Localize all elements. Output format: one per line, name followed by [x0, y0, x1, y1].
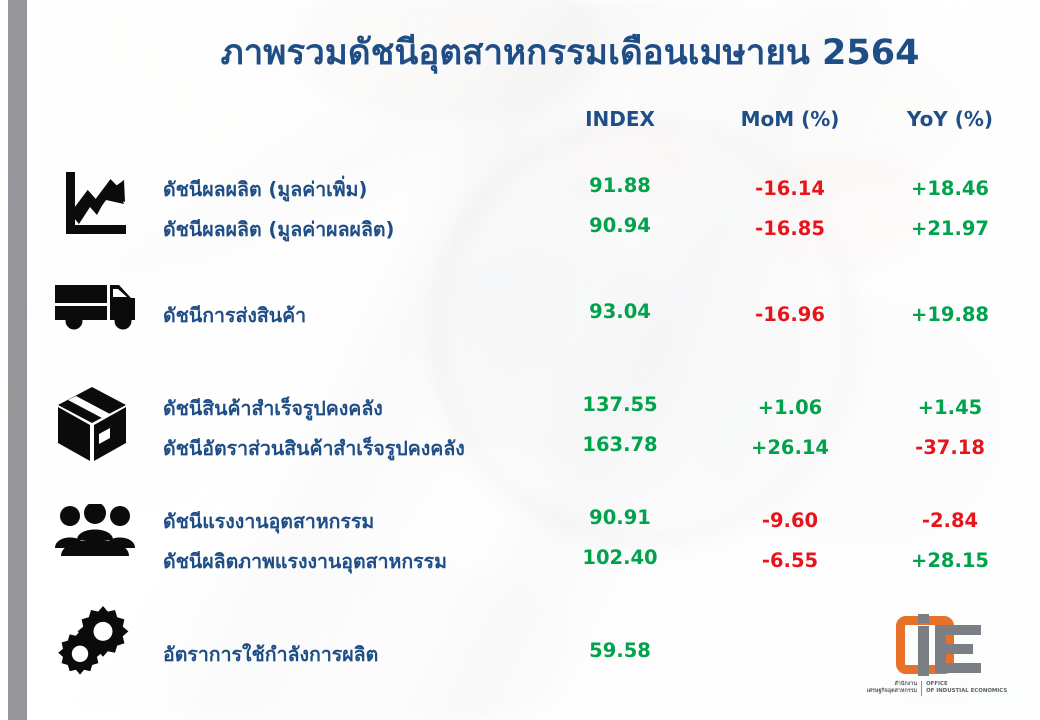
row-index-value: 163.78 — [540, 433, 700, 456]
row-label: ดัชนีผลผลิต (มูลค่าผลผลิต) — [163, 214, 394, 245]
row-mom-value: -16.85 — [705, 217, 875, 240]
table-row: ดัชนีสินค้าสำเร็จรูปคงคลัง 137.55 +1.06 … — [0, 393, 1040, 423]
logo-eng-text: OFFICE OF INDUSTIAL ECONOMICS — [922, 681, 1007, 696]
page-title: ภาพรวมดัชนีอุตสาหกรรมเดือนเมษายน 2564 — [140, 34, 1000, 73]
row-yoy-value: +1.45 — [870, 396, 1030, 419]
row-label: ดัชนีอัตราส่วนสินค้าสำเร็จรูปคงคลัง — [163, 433, 465, 464]
row-label: ดัชนีแรงงานอุตสาหกรรม — [163, 506, 374, 537]
row-index-value: 137.55 — [540, 393, 700, 416]
column-header-index: INDEX — [540, 107, 700, 131]
row-label: ดัชนีสินค้าสำเร็จรูปคงคลัง — [163, 393, 383, 424]
row-label: อัตราการใช้กำลังการผลิต — [163, 639, 378, 670]
logo-eng-line1: OFFICE — [926, 681, 1007, 688]
row-mom-value: +1.06 — [705, 396, 875, 419]
row-mom-value: -16.96 — [705, 303, 875, 326]
row-yoy-value: +28.15 — [870, 549, 1030, 572]
logo-e-bar-top — [935, 625, 981, 635]
oie-logo-text: สำนักงาน เศรษฐกิจอุตสาหกรรม OFFICE OF IN… — [862, 681, 1012, 696]
row-mom-value: -16.14 — [705, 177, 875, 200]
table-row: ดัชนีผลิตภาพแรงงานอุตสาหกรรม 102.40 -6.5… — [0, 546, 1040, 576]
logo-i-dot — [918, 614, 929, 623]
row-index-value: 102.40 — [540, 546, 700, 569]
row-index-value: 90.94 — [540, 214, 700, 237]
slide-canvas: ภาพรวมดัชนีอุตสาหกรรมเดือนเมษายน 2564 IN… — [0, 0, 1040, 720]
logo-thai-text: สำนักงาน เศรษฐกิจอุตสาหกรรม — [867, 681, 921, 696]
row-yoy-value: -2.84 — [870, 509, 1030, 532]
column-header-mom: MoM (%) — [705, 107, 875, 131]
logo-e-bar-bottom — [935, 663, 981, 673]
row-mom-value: +26.14 — [705, 436, 875, 459]
row-mom-value: -9.60 — [705, 509, 875, 532]
table-row: ดัชนีการส่งสินค้า 93.04 -16.96 +19.88 — [0, 300, 1040, 330]
table-row: ดัชนีอัตราส่วนสินค้าสำเร็จรูปคงคลัง 163.… — [0, 433, 1040, 463]
row-label: ดัชนีผลผลิต (มูลค่าเพิ่ม) — [163, 174, 367, 205]
row-yoy-value: +19.88 — [870, 303, 1030, 326]
table-row: ดัชนีผลผลิต (มูลค่าเพิ่ม) 91.88 -16.14 +… — [0, 174, 1040, 204]
logo-e-bar-middle — [935, 644, 973, 654]
oie-logo-mark — [882, 612, 992, 678]
row-yoy-value: +21.97 — [870, 217, 1030, 240]
row-label: ดัชนีผลิตภาพแรงงานอุตสาหกรรม — [163, 546, 447, 577]
row-yoy-value: -37.18 — [870, 436, 1030, 459]
row-index-value: 93.04 — [540, 300, 700, 323]
row-yoy-value: +18.46 — [870, 177, 1030, 200]
row-mom-value: -6.55 — [705, 549, 875, 572]
slide-content: ภาพรวมดัชนีอุตสาหกรรมเดือนเมษายน 2564 IN… — [0, 0, 1040, 720]
logo-thai-line2: เศรษฐกิจอุตสาหกรรม — [867, 688, 917, 695]
logo-i-stem — [918, 626, 929, 676]
table-row: ดัชนีแรงงานอุตสาหกรรม 90.91 -9.60 -2.84 — [0, 506, 1040, 536]
table-row: ดัชนีผลผลิต (มูลค่าผลผลิต) 90.94 -16.85 … — [0, 214, 1040, 244]
oie-logo: สำนักงาน เศรษฐกิจอุตสาหกรรม OFFICE OF IN… — [862, 612, 1012, 712]
row-index-value: 91.88 — [540, 174, 700, 197]
logo-eng-line2: OF INDUSTIAL ECONOMICS — [926, 688, 1007, 695]
row-label: ดัชนีการส่งสินค้า — [163, 300, 306, 331]
column-header-yoy: YoY (%) — [870, 107, 1030, 131]
row-index-value: 59.58 — [540, 639, 700, 662]
row-index-value: 90.91 — [540, 506, 700, 529]
